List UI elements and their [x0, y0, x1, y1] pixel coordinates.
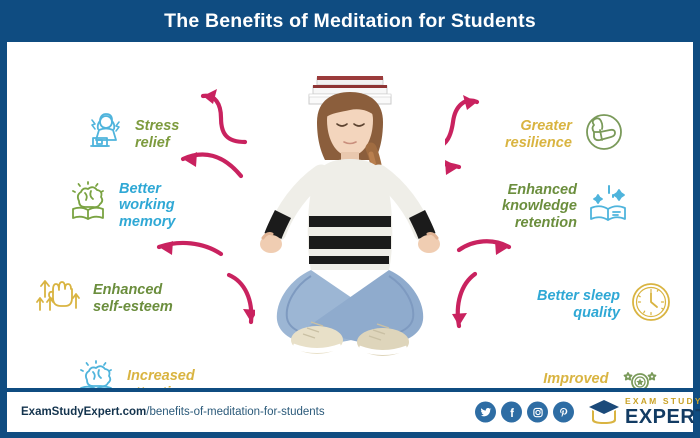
- brain-on-open-book-icon: [73, 360, 119, 388]
- graduation-cap-icon: [587, 397, 621, 427]
- footer-domain: ExamStudyExpert.com: [21, 406, 146, 418]
- benefit-label: Better working memory: [119, 181, 175, 230]
- benefit-label: Enhanced self-esteem: [93, 282, 173, 314]
- logo-top-text: EXAM STUDY: [625, 397, 700, 406]
- instagram-icon[interactable]: [527, 402, 548, 423]
- benefit-label: Better sleep quality: [537, 288, 620, 320]
- page-title: The Benefits of Meditation for Students: [164, 10, 536, 33]
- twitter-icon[interactable]: [475, 402, 496, 423]
- benefit-label: Improved mental health: [515, 371, 608, 388]
- infographic-canvas: Stress relief Better working memory: [7, 42, 693, 388]
- benefit-label: Increased attention: [127, 368, 195, 388]
- benefit-enhanced-self-esteem[interactable]: Enhanced self-esteem: [33, 274, 173, 323]
- brain-on-open-book-icon: [65, 181, 111, 230]
- infographic-root: The Benefits of Meditation for Students: [0, 0, 700, 438]
- footer-bar: ExamStudyExpert.com/benefits-of-meditati…: [7, 392, 693, 432]
- benefit-label: Stress relief: [135, 118, 179, 150]
- social-links: [475, 402, 574, 423]
- stressed-student-at-laptop-icon: [81, 110, 127, 159]
- footer-url[interactable]: ExamStudyExpert.com/benefits-of-meditati…: [21, 406, 325, 418]
- thumbs-up-in-circle-icon: [580, 110, 626, 159]
- meditating-student-photo: [255, 64, 445, 384]
- raised-fist-with-arrows-icon: [33, 274, 85, 323]
- benefit-enhanced-knowledge-retention[interactable]: Enhanced knowledge retention: [502, 182, 633, 231]
- benefit-increased-attention[interactable]: Increased attention: [73, 360, 195, 388]
- logo-wordmark: EXAM STUDY EXPERT: [625, 397, 700, 427]
- benefit-label: Enhanced knowledge retention: [502, 182, 577, 231]
- header-bar: The Benefits of Meditation for Students: [0, 0, 700, 42]
- benefit-better-sleep-quality[interactable]: Better sleep quality: [537, 280, 674, 329]
- benefit-label: Greater resilience: [505, 118, 572, 150]
- hands-holding-star-medal-icon: [616, 363, 664, 388]
- benefit-better-working-memory[interactable]: Better working memory: [65, 181, 175, 230]
- benefit-improved-mental-health[interactable]: Improved mental health: [515, 363, 664, 388]
- sparkling-open-book-icon: [585, 182, 633, 231]
- wall-clock-icon: [628, 280, 674, 329]
- exam-study-expert-logo[interactable]: EXAM STUDY EXPERT: [587, 397, 700, 427]
- facebook-icon[interactable]: [501, 402, 522, 423]
- pinterest-icon[interactable]: [553, 402, 574, 423]
- benefit-stress-relief[interactable]: Stress relief: [81, 110, 179, 159]
- footer-path: /benefits-of-meditation-for-students: [146, 406, 324, 418]
- benefit-greater-resilience[interactable]: Greater resilience: [505, 110, 626, 159]
- logo-bottom-text: EXPERT: [625, 407, 700, 427]
